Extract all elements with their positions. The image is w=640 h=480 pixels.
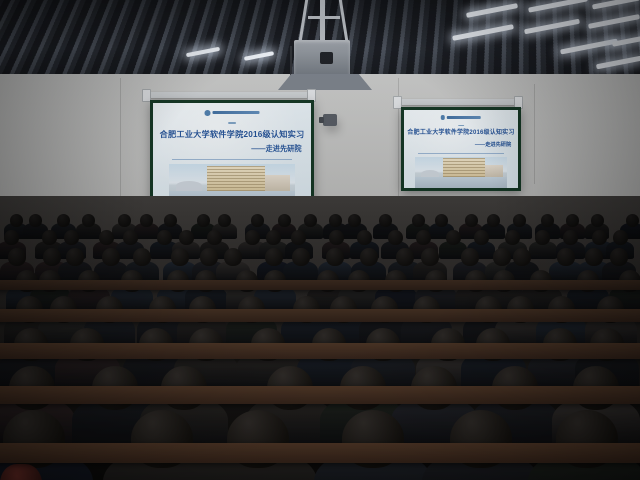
audience-member-head [421, 248, 439, 266]
photo-main-building [207, 166, 265, 191]
audience-member-head [487, 214, 500, 227]
audience-member-head [4, 230, 19, 245]
audience-member-head [164, 214, 177, 227]
audience-member-head [251, 214, 264, 227]
audience-member-head [566, 214, 579, 227]
audience-member-head [613, 230, 628, 245]
audience-member-head [218, 214, 231, 227]
audience-member-head [140, 214, 153, 227]
desk-row [0, 386, 640, 404]
projector-base-plate [278, 74, 372, 90]
audience-member-head [513, 248, 531, 266]
audience-member-head [278, 214, 291, 227]
audience-member-head [592, 230, 607, 245]
wall-seam [534, 84, 535, 184]
audience-member-head [412, 214, 425, 227]
desk-row [0, 443, 640, 463]
slide-subtitle: ——走进先研院 [251, 144, 301, 154]
audience-member-head [123, 230, 138, 245]
photo-building-floors [207, 166, 265, 191]
audience-member-head [200, 248, 218, 266]
audience-member-head [118, 214, 131, 227]
audience-member-head [171, 248, 189, 266]
lecture-hall-photo: 合肥工业大学软件学院2016级认知实习——走进先研院合肥工业大学软件学院2016… [0, 0, 640, 480]
university-seal-icon [441, 115, 481, 119]
audience-member-head [505, 230, 520, 245]
slide-title: 合肥工业大学软件学院2016级认知实习 [153, 130, 311, 139]
audience-member-head [43, 248, 61, 266]
slide-title: 合肥工业大学软件学院2016级认知实习 [404, 130, 518, 137]
audience-member-head [357, 230, 372, 245]
audience-member-head [197, 214, 210, 227]
audience-member-head [329, 230, 344, 245]
projector-lens [320, 52, 333, 64]
university-name-mark [212, 111, 259, 114]
audience-member-head [8, 248, 26, 266]
left-projection-screen-roller[interactable] [146, 92, 312, 98]
seating-area [0, 196, 640, 480]
wall-seam [120, 78, 121, 198]
audience-member-head [446, 230, 461, 245]
audience-member-head [388, 230, 403, 245]
audience-member-head [64, 230, 79, 245]
audience-member-head [474, 230, 489, 245]
audience-member-head [329, 214, 342, 227]
audience-member-head [207, 230, 222, 245]
audience-member-head [435, 214, 448, 227]
projector-mount-brace [308, 16, 340, 19]
audience-member-head [326, 248, 344, 266]
slide-content: 合肥工业大学软件学院2016级认知实习——走进先研院 [404, 110, 518, 188]
audience-member-head [133, 248, 151, 266]
audience-member-head [29, 214, 42, 227]
audience-member-head [563, 230, 578, 245]
audience-member-head [626, 214, 639, 227]
seal-mark [205, 110, 211, 116]
audience-member-head [557, 248, 575, 266]
audience-member-head [179, 230, 194, 245]
wall-camera-icon [323, 114, 337, 126]
photo-dome-structure [421, 170, 439, 177]
university-seal-icon [205, 110, 260, 116]
audience-member-head [266, 230, 281, 245]
audience-member-head [360, 248, 378, 266]
audience-member-head [379, 214, 392, 227]
audience-member-head [245, 230, 260, 245]
audience-member-head [265, 248, 283, 266]
audience-member-head [610, 248, 628, 266]
audience-member-head [396, 248, 414, 266]
audience-member-head [224, 248, 242, 266]
right-projection-screen[interactable]: 合肥工业大学软件学院2016级认知实习——走进先研院 [401, 107, 521, 191]
audience-member-head [585, 248, 603, 266]
audience-member-head [304, 214, 317, 227]
left-projection-screen[interactable]: 合肥工业大学软件学院2016级认知实习——走进先研院 [150, 100, 314, 208]
photo-main-building [443, 158, 485, 177]
photo-side-building [265, 175, 290, 191]
projector-mount-pole [320, 0, 325, 42]
audience-member-head [66, 248, 84, 266]
audience-member-head [10, 214, 23, 227]
audience-member-head [102, 248, 120, 266]
photo-side-building [485, 165, 503, 177]
slide-rule [418, 153, 505, 154]
slide-content: 合肥工业大学软件学院2016级认知实习——走进先研院 [153, 103, 311, 205]
audience-member-head [591, 214, 604, 227]
slide-divider-dot [228, 122, 236, 124]
right-projection-screen-roller[interactable] [397, 99, 519, 105]
audience-member-head [292, 248, 310, 266]
audience-member-head [57, 214, 70, 227]
audience-member-head [461, 248, 479, 266]
audience-member-head [465, 214, 478, 227]
audience-member-head [82, 214, 95, 227]
audience-member-head [416, 230, 431, 245]
desk-row [0, 343, 640, 359]
desk-row [0, 280, 640, 291]
seal-mark [441, 115, 445, 119]
university-name-mark [447, 116, 481, 118]
slide-building-photo [415, 157, 506, 188]
audience-member-head [348, 214, 361, 227]
audience-member-head [42, 230, 57, 245]
photo-building-floors [443, 158, 485, 177]
audience-member-head [513, 214, 526, 227]
audience-member-head [541, 214, 554, 227]
photo-dome-structure [176, 181, 201, 191]
audience-member-head [99, 230, 114, 245]
desk-row [0, 309, 640, 322]
slide-rule [172, 159, 292, 160]
slide-subtitle: ——走进先研院 [475, 141, 511, 148]
audience-member-head [157, 230, 172, 245]
photo-water [415, 177, 506, 188]
projector-assembly [268, 0, 388, 92]
